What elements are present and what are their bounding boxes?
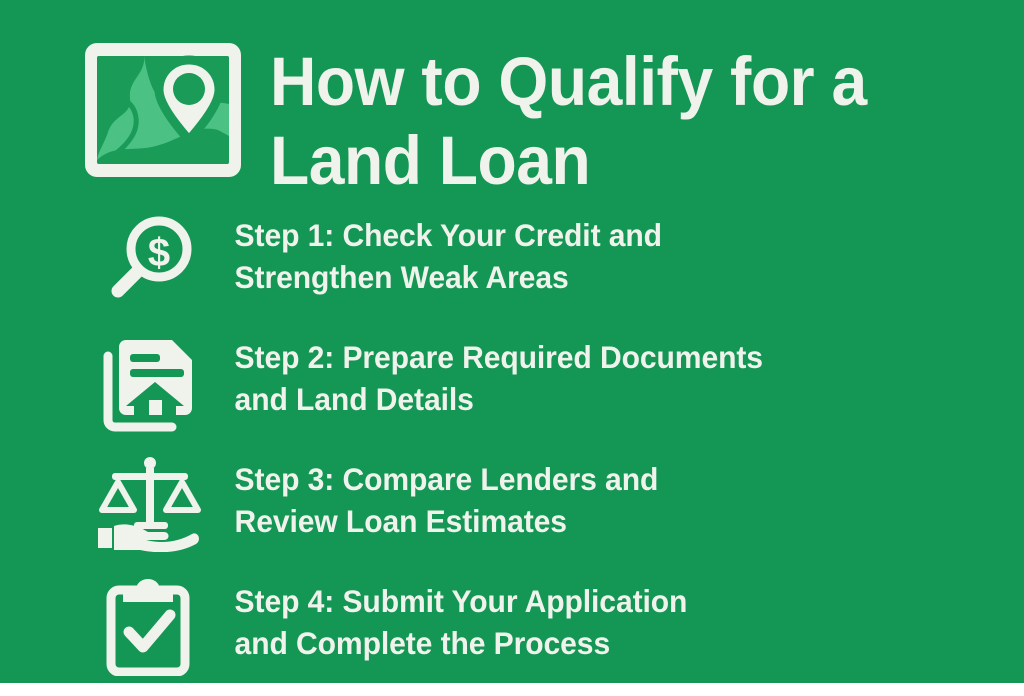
step-4-line-1: Step 4: Submit Your Application	[235, 580, 961, 622]
page-title: How to Qualify for a Land Loan	[242, 40, 964, 200]
steps-list: $ Step 1: Check Your Credit and Strength…	[96, 208, 996, 696]
magnifier-dollar-icon: $	[96, 208, 204, 312]
svg-text:$: $	[148, 231, 170, 275]
step-3-line-1: Step 3: Compare Lenders and	[235, 458, 961, 500]
step-2-line-2: and Land Details	[235, 378, 961, 420]
step-item-2: Step 2: Prepare Required Documents and L…	[96, 330, 996, 434]
step-3-text: Step 3: Compare Lenders and Review Loan …	[204, 452, 960, 542]
map-location-pin-icon	[84, 40, 242, 180]
step-2-text: Step 2: Prepare Required Documents and L…	[204, 330, 960, 420]
infographic-poster: How to Qualify for a Land Loan $ Step 1:…	[0, 0, 1024, 683]
step-2-line-1: Step 2: Prepare Required Documents	[235, 336, 961, 378]
scale-on-hand-icon	[96, 452, 204, 556]
page-title-line-1: How to Qualify for a	[270, 42, 915, 121]
step-4-text: Step 4: Submit Your Application and Comp…	[204, 574, 960, 664]
documents-house-icon	[96, 330, 204, 434]
step-item-3: Step 3: Compare Lenders and Review Loan …	[96, 452, 996, 556]
clipboard-check-icon	[96, 574, 204, 678]
step-3-line-2: Review Loan Estimates	[235, 500, 961, 542]
page-title-line-2: Land Loan	[270, 121, 915, 200]
step-1-text: Step 1: Check Your Credit and Strengthen…	[204, 208, 960, 298]
step-item-1: $ Step 1: Check Your Credit and Strength…	[96, 208, 996, 312]
header: How to Qualify for a Land Loan	[84, 40, 964, 200]
step-item-4: Step 4: Submit Your Application and Comp…	[96, 574, 996, 678]
step-1-line-2: Strengthen Weak Areas	[235, 256, 961, 298]
step-1-line-1: Step 1: Check Your Credit and	[235, 214, 961, 256]
step-4-line-2: and Complete the Process	[235, 622, 961, 664]
